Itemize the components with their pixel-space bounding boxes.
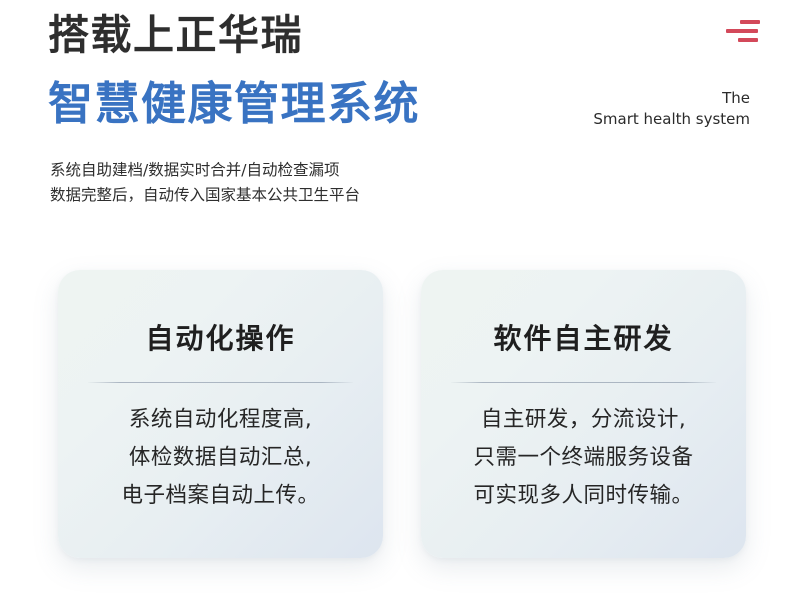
feature-card-body-line: 系统自动化程度高,	[84, 401, 357, 439]
description-block: 系统自助建档/数据实时合并/自动检查漏项 数据完整后，自动传入国家基本公共卫生平…	[50, 158, 360, 208]
feature-card-title: 自动化操作	[84, 322, 357, 356]
feature-card-body-line: 体检数据自动汇总,	[84, 439, 357, 477]
tagline-line-2: Smart health system	[593, 109, 750, 130]
red-bars-decoration	[726, 18, 760, 48]
feature-card-body: 系统自动化程度高, 体检数据自动汇总, 电子档案自动上传。	[84, 401, 357, 515]
feature-card-divider	[88, 382, 353, 383]
description-line-2: 数据完整后，自动传入国家基本公共卫生平台	[50, 183, 360, 208]
headline-block: 搭载上正华瑞 智慧健康管理系统	[48, 10, 420, 132]
feature-card[interactable]: 自动化操作 系统自动化程度高, 体检数据自动汇总, 电子档案自动上传。	[58, 270, 383, 558]
red-bar-bottom	[738, 38, 758, 42]
feature-card-body-line: 自主研发，分流设计,	[447, 401, 720, 439]
feature-card-body-line: 电子档案自动上传。	[84, 477, 357, 515]
feature-card-body-line: 可实现多人同时传输。	[447, 477, 720, 515]
headline-secondary: 智慧健康管理系统	[48, 76, 420, 132]
feature-card[interactable]: 软件自主研发 自主研发，分流设计, 只需一个终端服务设备 可实现多人同时传输。	[421, 270, 746, 558]
feature-card-divider	[451, 382, 716, 383]
tagline-line-1: The	[593, 88, 750, 109]
headline-primary: 搭载上正华瑞	[48, 10, 420, 60]
feature-card-body-line: 只需一个终端服务设备	[447, 439, 720, 477]
red-bar-top	[740, 20, 760, 24]
feature-card-list: 自动化操作 系统自动化程度高, 体检数据自动汇总, 电子档案自动上传。 软件自主…	[58, 270, 746, 558]
red-bar-middle	[726, 29, 758, 33]
description-line-1: 系统自助建档/数据实时合并/自动检查漏项	[50, 158, 360, 183]
feature-card-title: 软件自主研发	[447, 322, 720, 356]
english-tagline: The Smart health system	[593, 88, 750, 130]
feature-card-body: 自主研发，分流设计, 只需一个终端服务设备 可实现多人同时传输。	[447, 401, 720, 515]
